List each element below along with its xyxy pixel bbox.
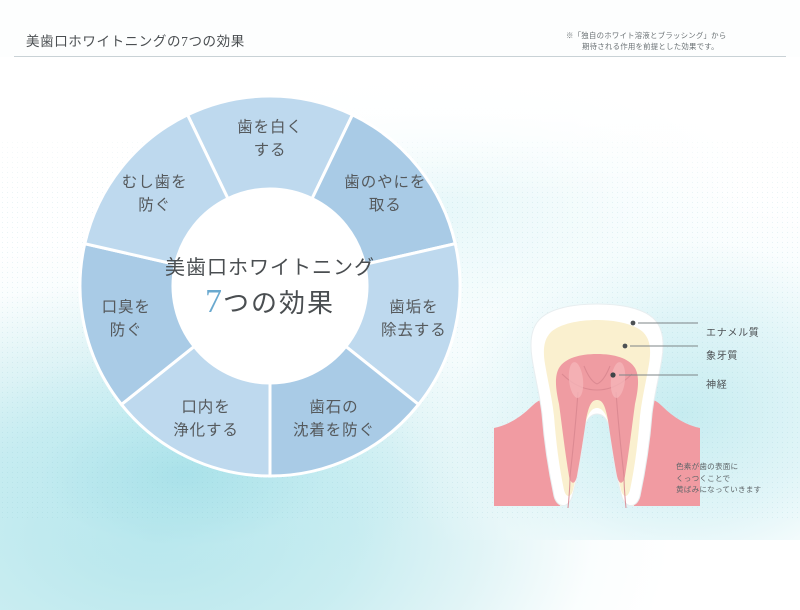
donut-center-number: 7 xyxy=(205,283,223,320)
pigment-caption: 色素が歯の表面に くっつくことで 黄ばみになっていきます xyxy=(676,461,800,496)
page-title: 美歯口ホワイトニングの7つの効果 xyxy=(26,30,245,50)
pulp-chamber-shape xyxy=(556,354,638,483)
donut-label-purify-mouth: 口内を浄化する xyxy=(173,396,239,442)
tooth-cross-section-illustration xyxy=(492,300,702,515)
donut-label-prevent-bad-breath-line-1: 口臭を xyxy=(102,296,151,319)
label-nerve: 神経 xyxy=(706,376,727,391)
donut-label-whiten-teeth-line-1: 歯を白く xyxy=(237,116,303,139)
donut-center-count: 7つの効果 xyxy=(165,284,375,322)
donut-center-title: 美歯口ホワイトニング xyxy=(165,254,375,282)
donut-label-purify-mouth-line-1: 口内を xyxy=(173,396,239,419)
donut-label-prevent-cavities-line-1: むし歯を xyxy=(122,171,188,194)
label-dentin: 象牙質 xyxy=(706,347,738,362)
donut-label-prevent-tartar: 歯石の沈着を防ぐ xyxy=(293,396,375,442)
donut-label-purify-mouth-line-2: 浄化する xyxy=(173,419,239,442)
pigment-caption-line-3: 黄ばみになっていきます xyxy=(676,484,800,496)
gum-shape xyxy=(494,399,700,506)
disclaimer-line-1: ※「独自のホワイト溶液とブラッシング」から xyxy=(566,31,726,40)
donut-label-remove-plaque: 歯垢を除去する xyxy=(381,296,447,342)
donut-label-remove-plaque-line-1: 歯垢を xyxy=(381,296,447,319)
donut-label-prevent-bad-breath: 口臭を防ぐ xyxy=(102,296,151,342)
label-enamel: エナメル質 xyxy=(706,324,760,339)
donut-label-prevent-tartar-line-1: 歯石の xyxy=(293,396,375,419)
donut-label-prevent-bad-breath-line-2: 防ぐ xyxy=(102,319,151,342)
disclaimer-line-2: 期待される作用を前提とした効果です。 xyxy=(566,41,792,52)
donut-label-remove-tar-line-1: 歯のやにを xyxy=(344,171,426,194)
donut-center-suffix: つの効果 xyxy=(223,289,335,318)
donut-label-remove-tar: 歯のやにを取る xyxy=(344,171,426,217)
donut-center-label: 美歯口ホワイトニング 7つの効果 xyxy=(165,254,375,322)
header-divider xyxy=(14,56,786,57)
pigment-caption-line-1: 色素が歯の表面に xyxy=(676,461,800,473)
donut-label-prevent-tartar-line-2: 沈着を防ぐ xyxy=(293,419,375,442)
disclaimer-note: ※「独自のホワイト溶液とブラッシング」から 期待される作用を前提とした効果です。 xyxy=(566,30,792,52)
enamel-anchor-dot xyxy=(631,321,636,326)
dentin-anchor-dot xyxy=(623,344,628,349)
donut-label-remove-tar-line-2: 取る xyxy=(344,194,426,217)
nerve-anchor-dot xyxy=(610,372,615,377)
donut-label-remove-plaque-line-2: 除去する xyxy=(381,319,447,342)
donut-label-whiten-teeth: 歯を白くする xyxy=(237,116,303,162)
pigment-caption-line-2: くっつくことで xyxy=(676,473,800,485)
donut-label-whiten-teeth-line-2: する xyxy=(237,139,303,162)
donut-label-prevent-cavities: むし歯を防ぐ xyxy=(122,171,188,217)
donut-label-prevent-cavities-line-2: 防ぐ xyxy=(122,194,188,217)
infographic-canvas: 美歯口ホワイトニングの7つの効果 ※「独自のホワイト溶液とブラッシング」から 期… xyxy=(0,0,800,522)
